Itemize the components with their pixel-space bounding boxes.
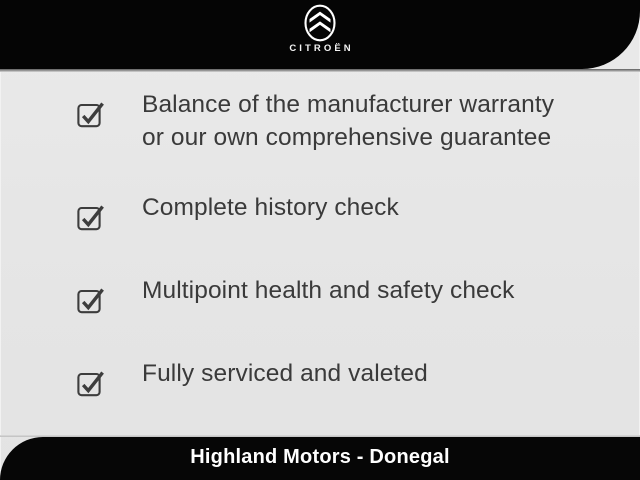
list-item-label: Complete history check	[142, 191, 399, 224]
dealer-footer: Highland Motors - Donegal	[0, 437, 640, 480]
brand-lockup: CITROËN	[0, 4, 640, 54]
list-item-label: Fully serviced and valeted	[142, 357, 428, 390]
list-item: Complete history check	[0, 191, 640, 237]
checked-checkbox-icon	[76, 369, 106, 403]
header-divider	[0, 69, 640, 72]
citroen-double-chevron-logo-icon	[297, 4, 343, 42]
list-item-label: Balance of the manufacturer warranty or …	[142, 88, 554, 154]
promo-slide: CITROËN Balance of the manufacturer warr…	[0, 0, 640, 480]
checked-checkbox-icon	[76, 203, 106, 237]
list-item: Multipoint health and safety check	[0, 274, 640, 320]
list-item: Balance of the manufacturer warranty or …	[0, 88, 640, 154]
benefits-list: Balance of the manufacturer warranty or …	[0, 88, 640, 440]
list-item-label: Multipoint health and safety check	[142, 274, 514, 307]
brand-wordmark: CITROËN	[286, 43, 354, 54]
brand-header: CITROËN	[0, 0, 640, 69]
checked-checkbox-icon	[76, 100, 106, 134]
checked-checkbox-icon	[76, 286, 106, 320]
dealer-name: Highland Motors - Donegal	[0, 446, 640, 469]
list-item: Fully serviced and valeted	[0, 357, 640, 403]
